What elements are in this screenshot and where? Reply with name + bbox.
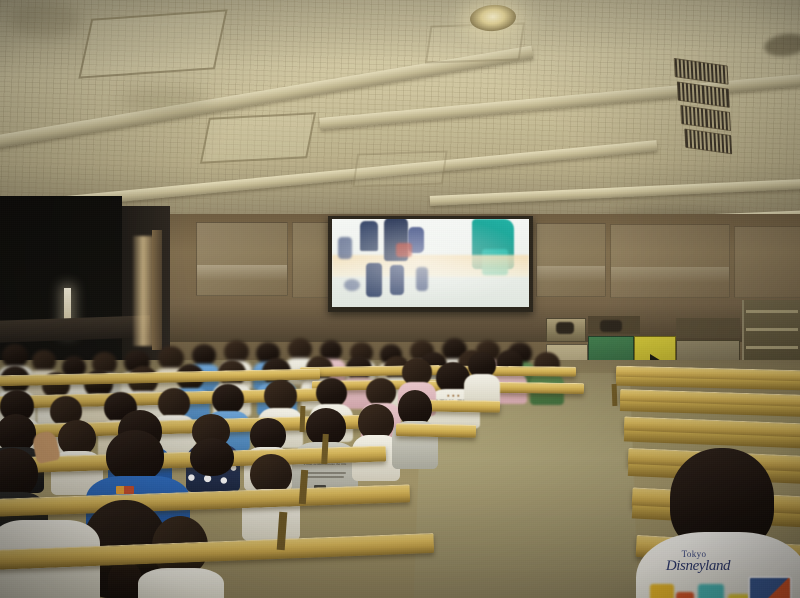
head xyxy=(2,344,28,368)
wall-panel xyxy=(734,226,800,298)
column-edge xyxy=(152,230,162,350)
head xyxy=(316,378,347,407)
shelf-row xyxy=(746,346,798,349)
head xyxy=(212,384,244,414)
panel-gloss xyxy=(611,267,729,283)
back-equipment xyxy=(600,320,622,332)
ceiling-access-panel xyxy=(352,150,447,187)
head xyxy=(264,380,297,411)
shelf-row xyxy=(746,328,798,331)
head xyxy=(288,338,312,360)
back-equipment xyxy=(556,322,574,334)
desk-row xyxy=(396,423,476,438)
projection-screen xyxy=(332,219,529,307)
torso xyxy=(138,568,224,598)
affective-text-block xyxy=(304,472,346,474)
shirt-graphic xyxy=(728,594,750,598)
head xyxy=(192,344,216,366)
shirt-graphic-badge xyxy=(748,576,792,598)
ponytail xyxy=(108,562,142,598)
shirt-graphic xyxy=(698,584,724,598)
desk-leg xyxy=(612,384,618,406)
disneyland-line2: Disneyland xyxy=(624,559,772,574)
vent-slat xyxy=(680,105,731,131)
head xyxy=(32,350,56,372)
affective-text-block xyxy=(306,476,344,478)
ceiling-access-panel xyxy=(78,9,227,78)
head xyxy=(158,388,190,418)
wall-panel xyxy=(536,223,606,297)
shirt-graphic xyxy=(676,592,694,598)
shirt-patch xyxy=(116,486,134,494)
back-counter xyxy=(676,318,740,338)
lecture-hall-photo: ★★★ ATHLETA Affective a b xyxy=(0,0,800,598)
ceiling-vent-icon xyxy=(674,58,731,156)
panel-gloss xyxy=(537,266,605,282)
video-highlight-blowout xyxy=(332,219,529,307)
wall-panel xyxy=(196,222,288,296)
ceiling-stain xyxy=(10,2,80,38)
panel-gloss xyxy=(197,265,287,281)
ceiling-access-panel xyxy=(200,112,316,163)
head xyxy=(366,378,396,406)
head xyxy=(106,430,164,482)
wall-panel xyxy=(292,222,332,298)
torso: Tokyo Disneyland xyxy=(636,532,800,598)
desk-leg xyxy=(300,406,306,432)
shelf-row xyxy=(746,310,798,313)
shirt-graphic xyxy=(650,584,674,598)
wall-panel xyxy=(610,224,730,298)
vent-slat xyxy=(677,81,730,108)
head xyxy=(190,438,234,476)
ceiling-stain xyxy=(120,86,210,114)
vent-slat xyxy=(684,129,732,155)
